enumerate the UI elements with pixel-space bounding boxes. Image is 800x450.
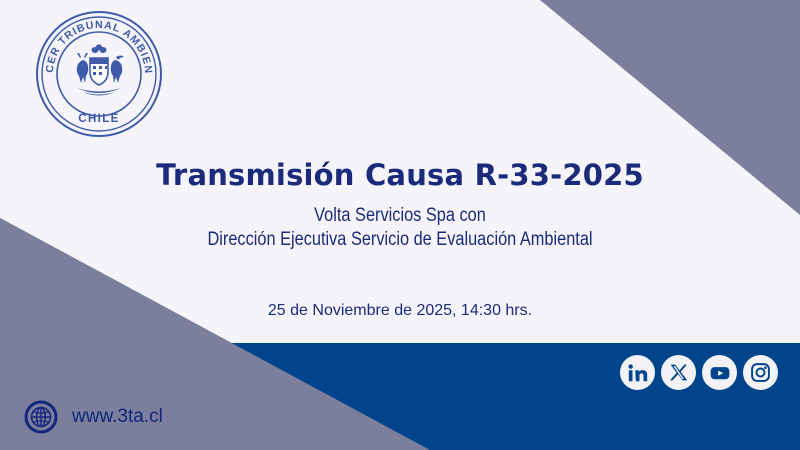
page-title: Transmisión Causa R-33-2025 bbox=[0, 160, 800, 192]
linkedin-icon bbox=[627, 362, 649, 384]
youtube-icon bbox=[709, 362, 731, 384]
website-link[interactable]: www.3ta.cl bbox=[24, 400, 163, 434]
case-parties: Volta Servicios Spa con Dirección Ejecut… bbox=[56, 204, 744, 252]
case-party-plaintiff: Volta Servicios Spa con bbox=[56, 204, 744, 228]
x-twitter-link[interactable] bbox=[661, 355, 696, 390]
linkedin-link[interactable] bbox=[620, 355, 655, 390]
chile-coat-of-arms-icon bbox=[77, 44, 124, 95]
instagram-link[interactable] bbox=[743, 355, 778, 390]
institution-seal-logo: TERCER TRIBUNAL AMBIENTAL CHILE bbox=[33, 8, 165, 140]
youtube-link[interactable] bbox=[702, 355, 737, 390]
seal-bottom-text: CHILE bbox=[78, 113, 120, 125]
hearing-datetime: 25 de Noviembre de 2025, 14:30 hrs. bbox=[0, 302, 800, 320]
social-links bbox=[620, 355, 778, 390]
globe-icon bbox=[24, 400, 58, 434]
website-url-label: www.3ta.cl bbox=[72, 406, 163, 428]
instagram-icon bbox=[750, 362, 771, 383]
x-twitter-icon bbox=[668, 362, 689, 383]
hero-text-block: Transmisión Causa R-33-2025 Volta Servic… bbox=[0, 160, 800, 251]
case-party-defendant: Dirección Ejecutiva Servicio de Evaluaci… bbox=[56, 228, 744, 252]
broadcast-announcement-slide: TERCER TRIBUNAL AMBIENTAL CHILE bbox=[0, 0, 800, 450]
